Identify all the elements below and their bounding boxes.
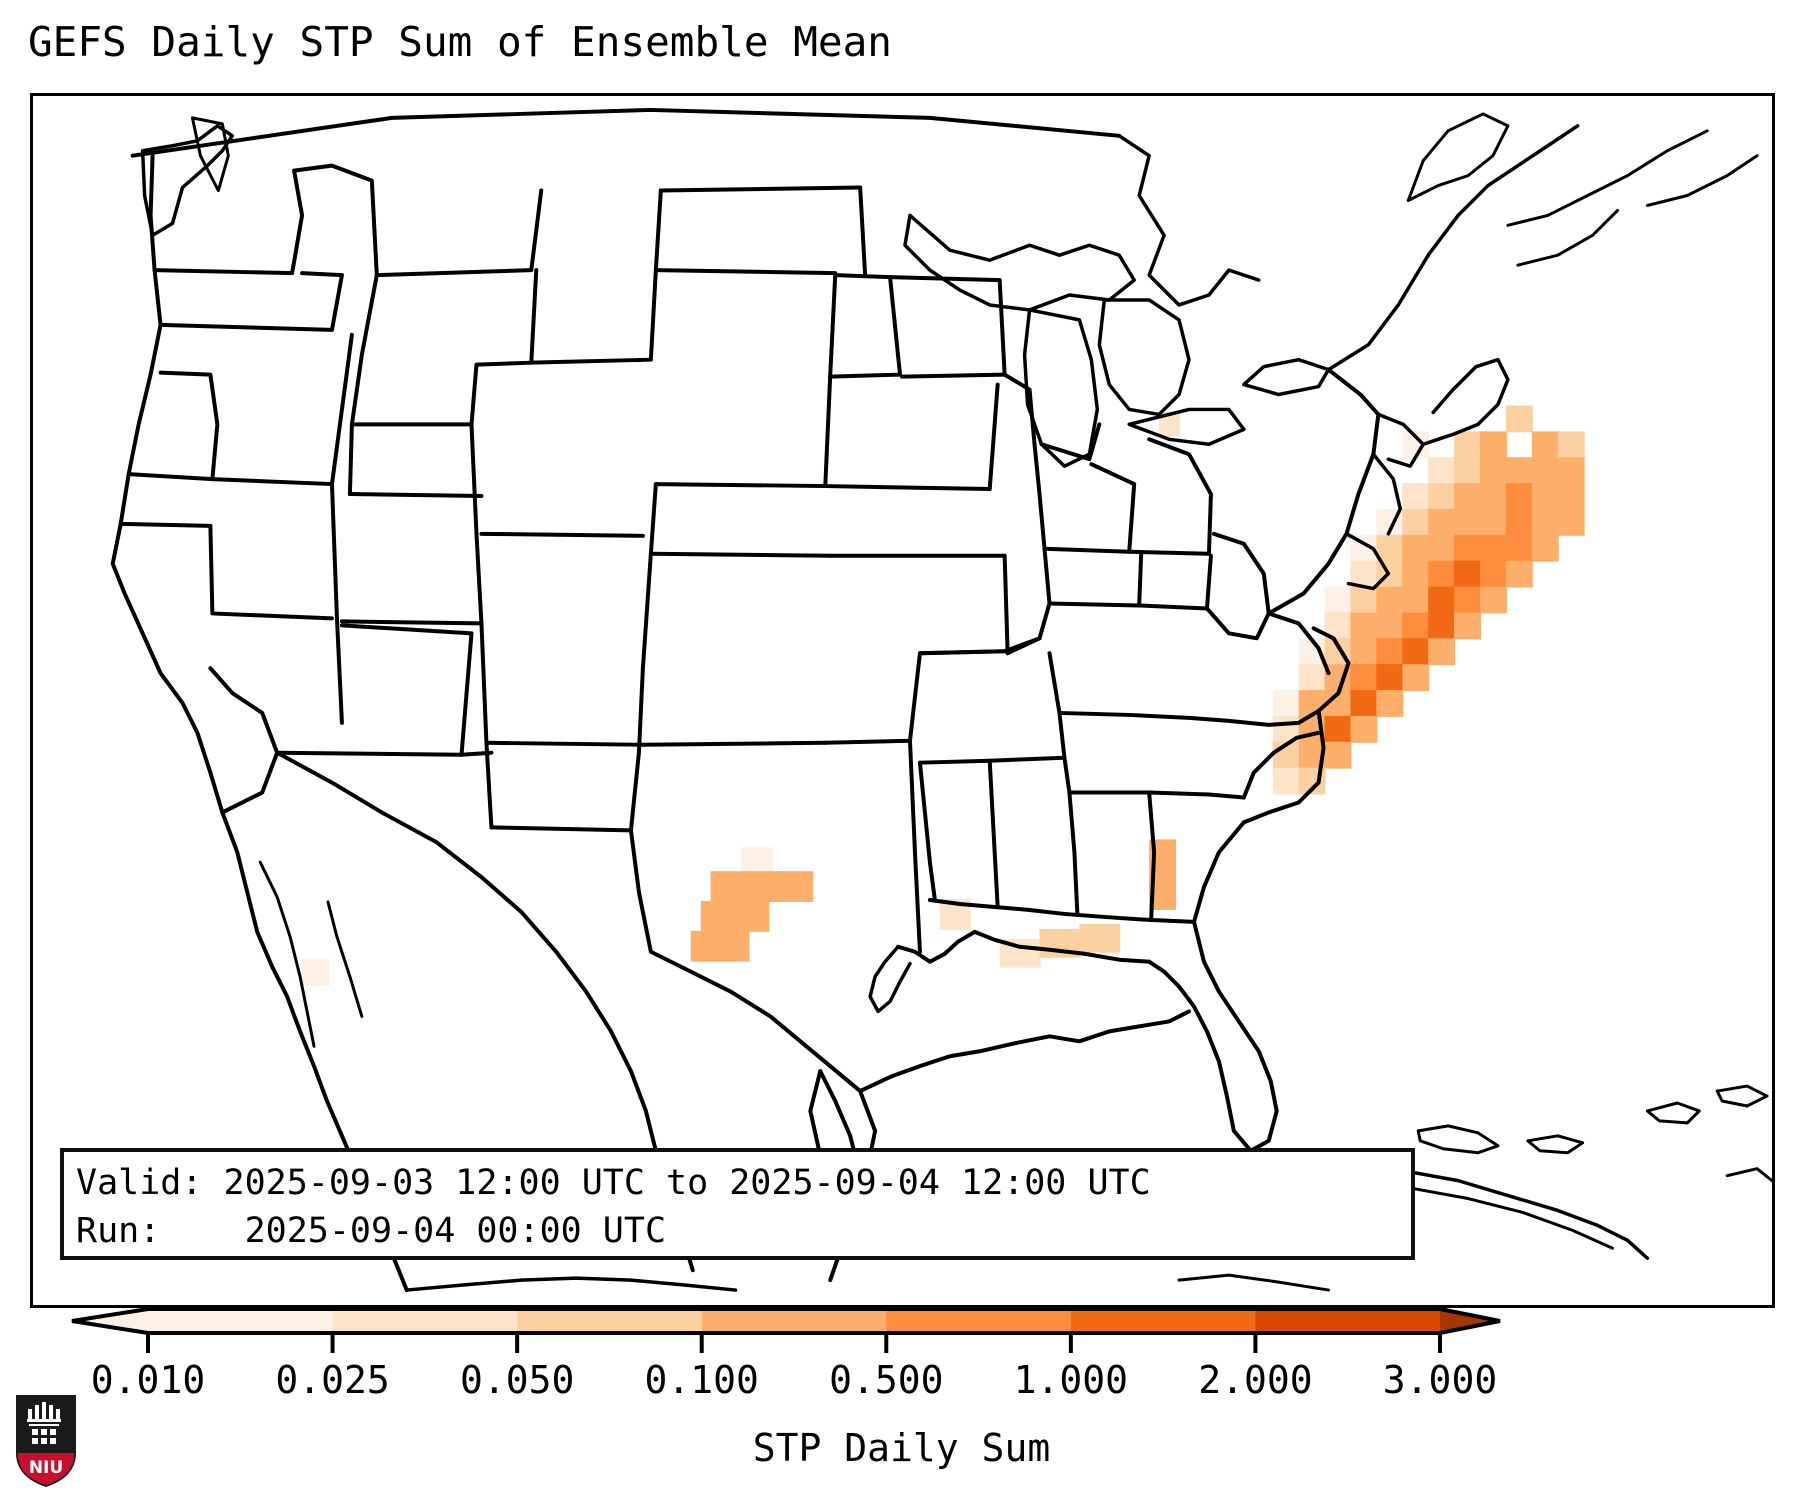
colorbar-segment [702,1309,887,1333]
map-outlines [33,96,1772,1305]
colorbar-tick-label: 0.050 [460,1358,574,1402]
west-coast-and-states [113,156,472,813]
map-plot-area[interactable] [30,93,1775,1308]
colorbar-tick-label: 3.000 [1383,1358,1497,1402]
niu-logo-text: NIU [29,1458,63,1478]
southeast-states [870,733,1318,1151]
appalachia-and-east-coast [930,360,1508,922]
colorbar-segment [886,1309,1071,1333]
colorbar-tick-label: 0.010 [91,1358,205,1402]
run-line: Run: 2025-09-04 00:00 UTC [76,1207,1411,1255]
colorbar-tick-labels: 0.0100.0250.0500.1000.5001.0002.0003.000 [0,1358,1803,1410]
valid-run-info-box: Valid: 2025-09-03 12:00 UTC to 2025-09-0… [60,1148,1415,1260]
interior-west-states [294,166,835,831]
colorbar-segment [148,1309,333,1333]
colorbar-segment [1071,1309,1256,1333]
valid-line: Valid: 2025-09-03 12:00 UTC to 2025-09-0… [76,1159,1411,1207]
colorbar-svg [0,1303,1803,1363]
colorbar-segment [1255,1309,1440,1333]
niu-logo[interactable]: NIU [14,1393,78,1489]
gefs-stp-map-page: GEFS Daily STP Sum of Ensemble Mean [0,0,1803,1500]
colorbar[interactable] [0,1303,1803,1363]
colorbar-tick-label: 2.000 [1198,1358,1312,1402]
colorbar-tick-label: 0.025 [275,1358,389,1402]
colorbar-tick-label: 1.000 [1014,1358,1128,1402]
colorbar-tick-label: 0.100 [645,1358,759,1402]
midwest-states [920,375,1319,793]
page-title: GEFS Daily STP Sum of Ensemble Mean [28,18,892,66]
colorbar-segment [333,1309,518,1333]
colorbar-tick-label: 0.500 [829,1358,943,1402]
great-plains-states [631,188,1189,1181]
colorbar-axis-label: STP Daily Sum [0,1425,1803,1471]
colorbar-segment [517,1309,702,1333]
